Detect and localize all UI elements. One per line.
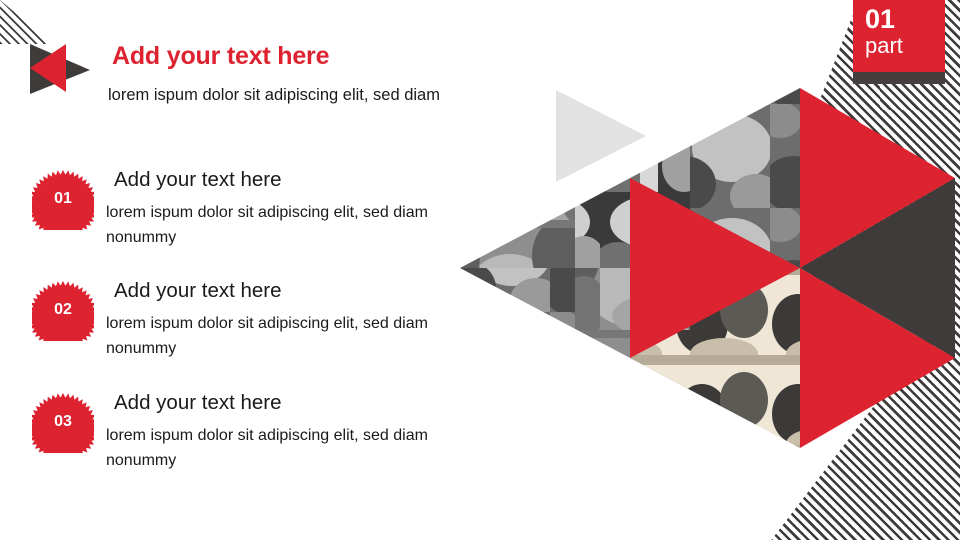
header-arrow-mark-icon — [22, 26, 110, 96]
part-badge-word: part — [865, 33, 903, 59]
list-item-body: lorem ispum dolor sit adipiscing elit, s… — [106, 200, 446, 250]
part-badge: 01 part — [853, 0, 945, 72]
starburst-badge-icon — [32, 279, 94, 341]
photo-collage-group — [460, 88, 805, 450]
starburst-badge-icon — [32, 168, 94, 230]
slide-canvas: Add your text here lorem ispum dolor sit… — [0, 0, 960, 540]
page-subtitle: lorem ispum dolor sit adipiscing elit, s… — [108, 86, 440, 105]
list-item[interactable]: 01 Add your text here lorem ispum dolor … — [28, 162, 448, 272]
starburst-badge-icon — [32, 391, 94, 453]
light-gray-play-triangle-icon — [556, 90, 646, 182]
part-badge-number: 01 — [865, 4, 895, 34]
list-item-title: Add your text here — [114, 391, 282, 415]
list-item[interactable]: 02 Add your text here lorem ispum dolor … — [28, 273, 448, 383]
list-item[interactable]: 03 Add your text here lorem ispum dolor … — [28, 385, 448, 495]
list-item-body: lorem ispum dolor sit adipiscing elit, s… — [106, 423, 446, 473]
list-item-title: Add your text here — [114, 279, 282, 303]
list-item-title: Add your text here — [114, 168, 282, 192]
list-item-body: lorem ispum dolor sit adipiscing elit, s… — [106, 311, 446, 361]
page-title: Add your text here — [112, 42, 329, 71]
